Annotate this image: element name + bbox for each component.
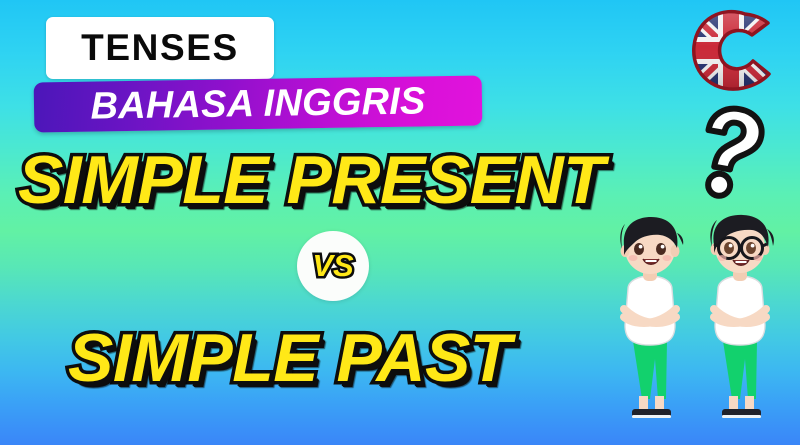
thumbnail-canvas: TENSES BAHASA INGGRIS SIMPLE PRESENT VS … <box>0 0 800 445</box>
boy-one <box>620 217 683 418</box>
versus-label: VS <box>297 231 369 301</box>
question-mark-icon <box>683 104 775 200</box>
tenses-label: TENSES <box>46 17 274 79</box>
title-simple-present: SIMPLE PRESENT <box>18 146 604 214</box>
title-simple-past: SIMPLE PAST <box>68 324 511 392</box>
bahasa-inggris-label: BAHASA INGGRIS <box>34 75 483 132</box>
boy-two <box>710 215 774 418</box>
two-boys-illustration <box>598 213 798 445</box>
letter-c-union-jack-logo <box>683 6 779 96</box>
